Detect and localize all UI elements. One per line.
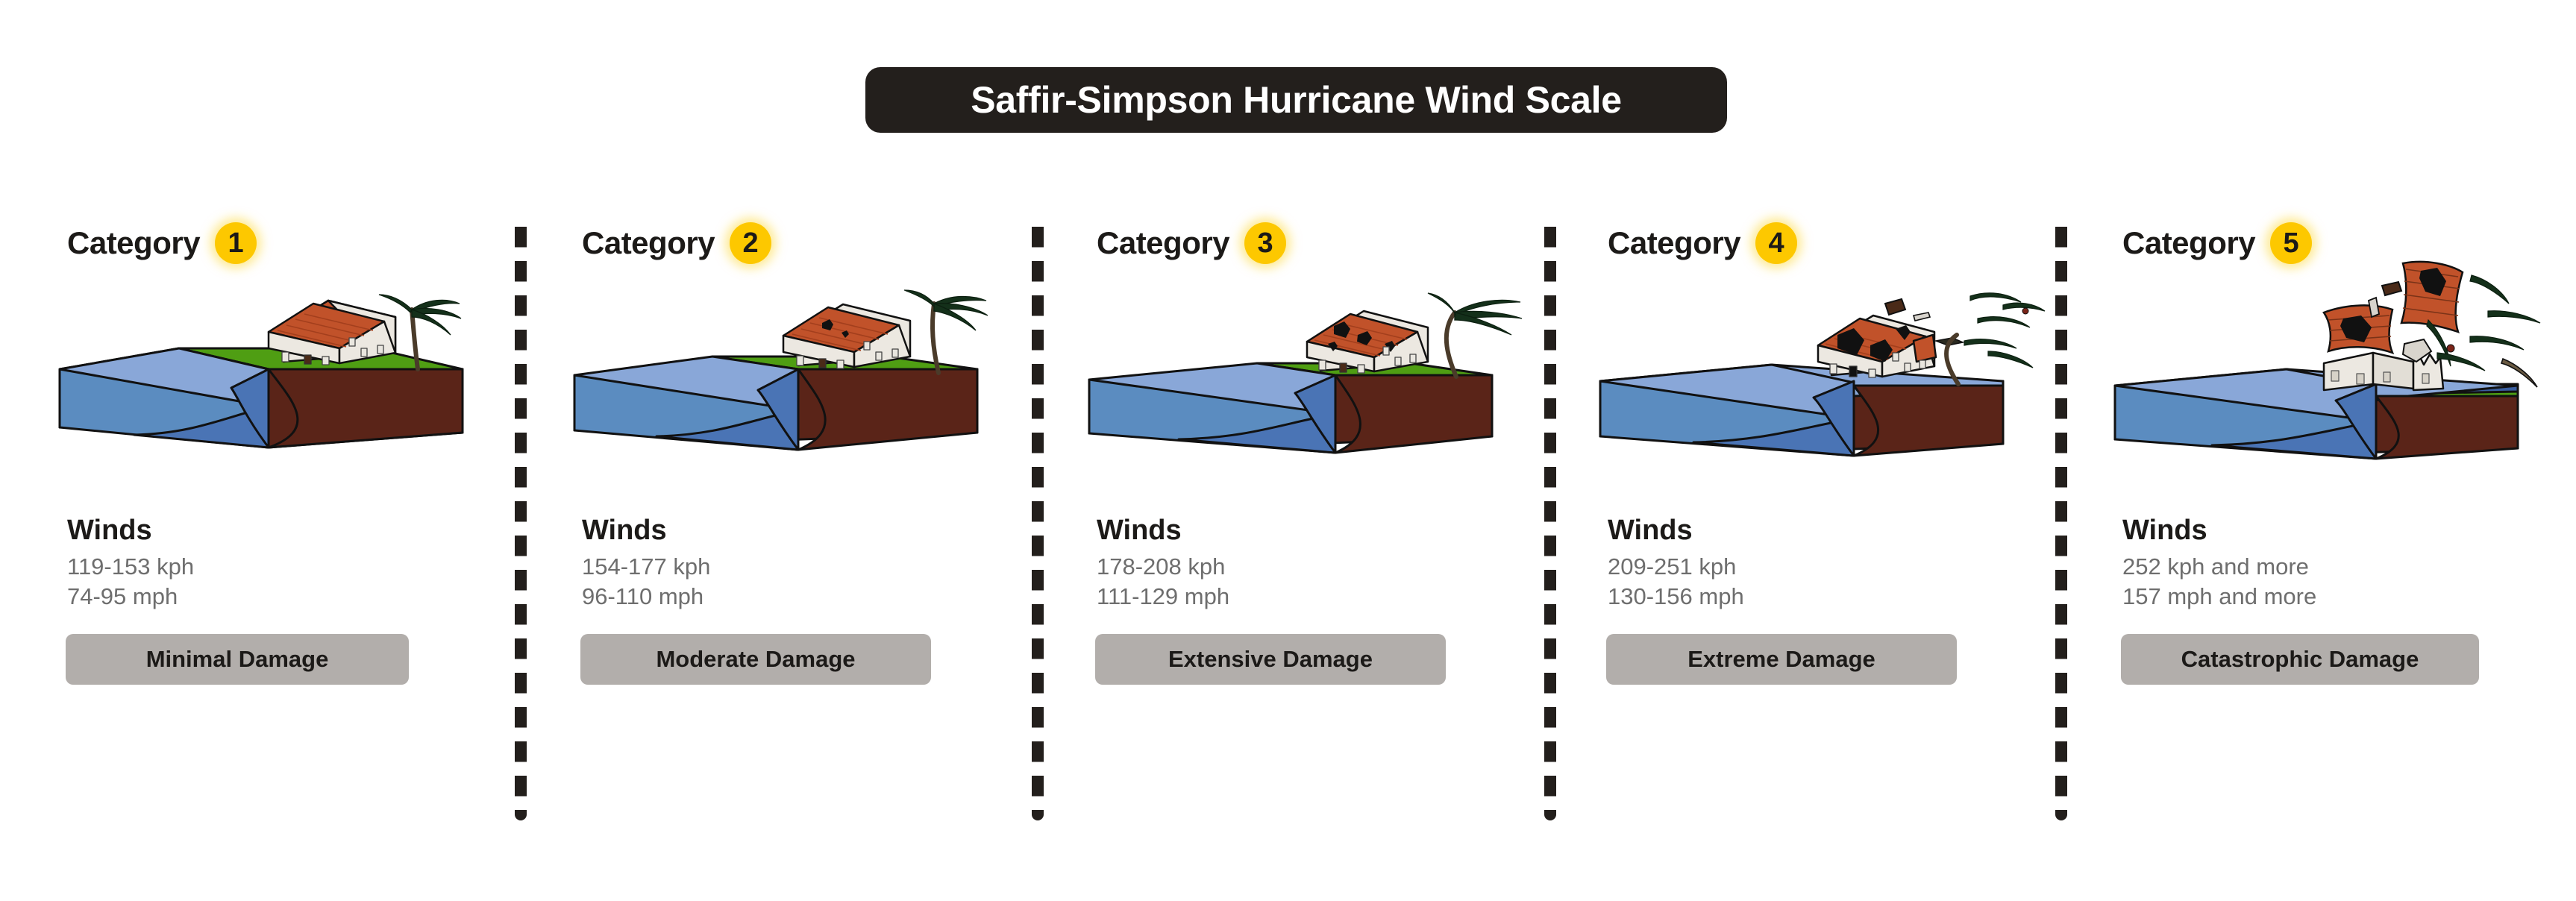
damage-label-2[interactable]: Moderate Damage [580,634,931,685]
category-columns: Category 1 [0,216,2576,901]
winds-heading: Winds [582,515,667,547]
winds-mph: 96-110 mph [582,583,703,610]
category-label: Category [1608,225,1740,261]
palm-tree [1428,293,1522,377]
winds-kph: 154-177 kph [582,553,710,580]
page-title: Saffir-Simpson Hurricane Wind Scale [971,78,1622,122]
damage-label-3[interactable]: Extensive Damage [1095,634,1446,685]
scene-illustration-1 [45,257,522,489]
winds-heading: Winds [67,515,152,547]
category-label: Category [2122,225,2255,261]
winds-mph: 130-156 mph [1608,583,1744,610]
category-panel-2: Category 2 [574,216,1037,901]
winds-kph: 119-153 kph [67,553,194,580]
winds-kph: 178-208 kph [1097,553,1225,580]
winds-heading: Winds [2122,515,2207,547]
winds-kph: 252 kph and more [2122,553,2309,580]
category-panel-4: Category 4 [1600,216,2063,901]
scene-illustration-2 [560,257,1037,489]
damage-label-1[interactable]: Minimal Damage [66,634,409,685]
category-label: Category [67,225,200,261]
damage-label-4[interactable]: Extreme Damage [1606,634,1957,685]
scene-illustration-3 [1074,257,1552,489]
category-panel-3: Category 3 [1089,216,1552,901]
scene-illustration-4 [1585,257,2063,489]
winds-heading: Winds [1608,515,1693,547]
winds-mph: 111-129 mph [1097,583,1229,610]
winds-mph: 157 mph and more [2122,583,2316,610]
winds-kph: 209-251 kph [1608,553,1736,580]
damage-label-5[interactable]: Catastrophic Damage [2121,634,2479,685]
category-panel-1: Category 1 [60,216,522,901]
palm-tree [1946,293,2045,384]
winds-mph: 74-95 mph [67,583,178,610]
winds-heading: Winds [1097,515,1182,547]
title-banner: Saffir-Simpson Hurricane Wind Scale [865,67,1727,133]
category-label: Category [1097,225,1229,261]
category-panel-5: Category 5 [2115,216,2576,901]
scene-illustration-5 [2100,257,2576,489]
category-label: Category [582,225,715,261]
